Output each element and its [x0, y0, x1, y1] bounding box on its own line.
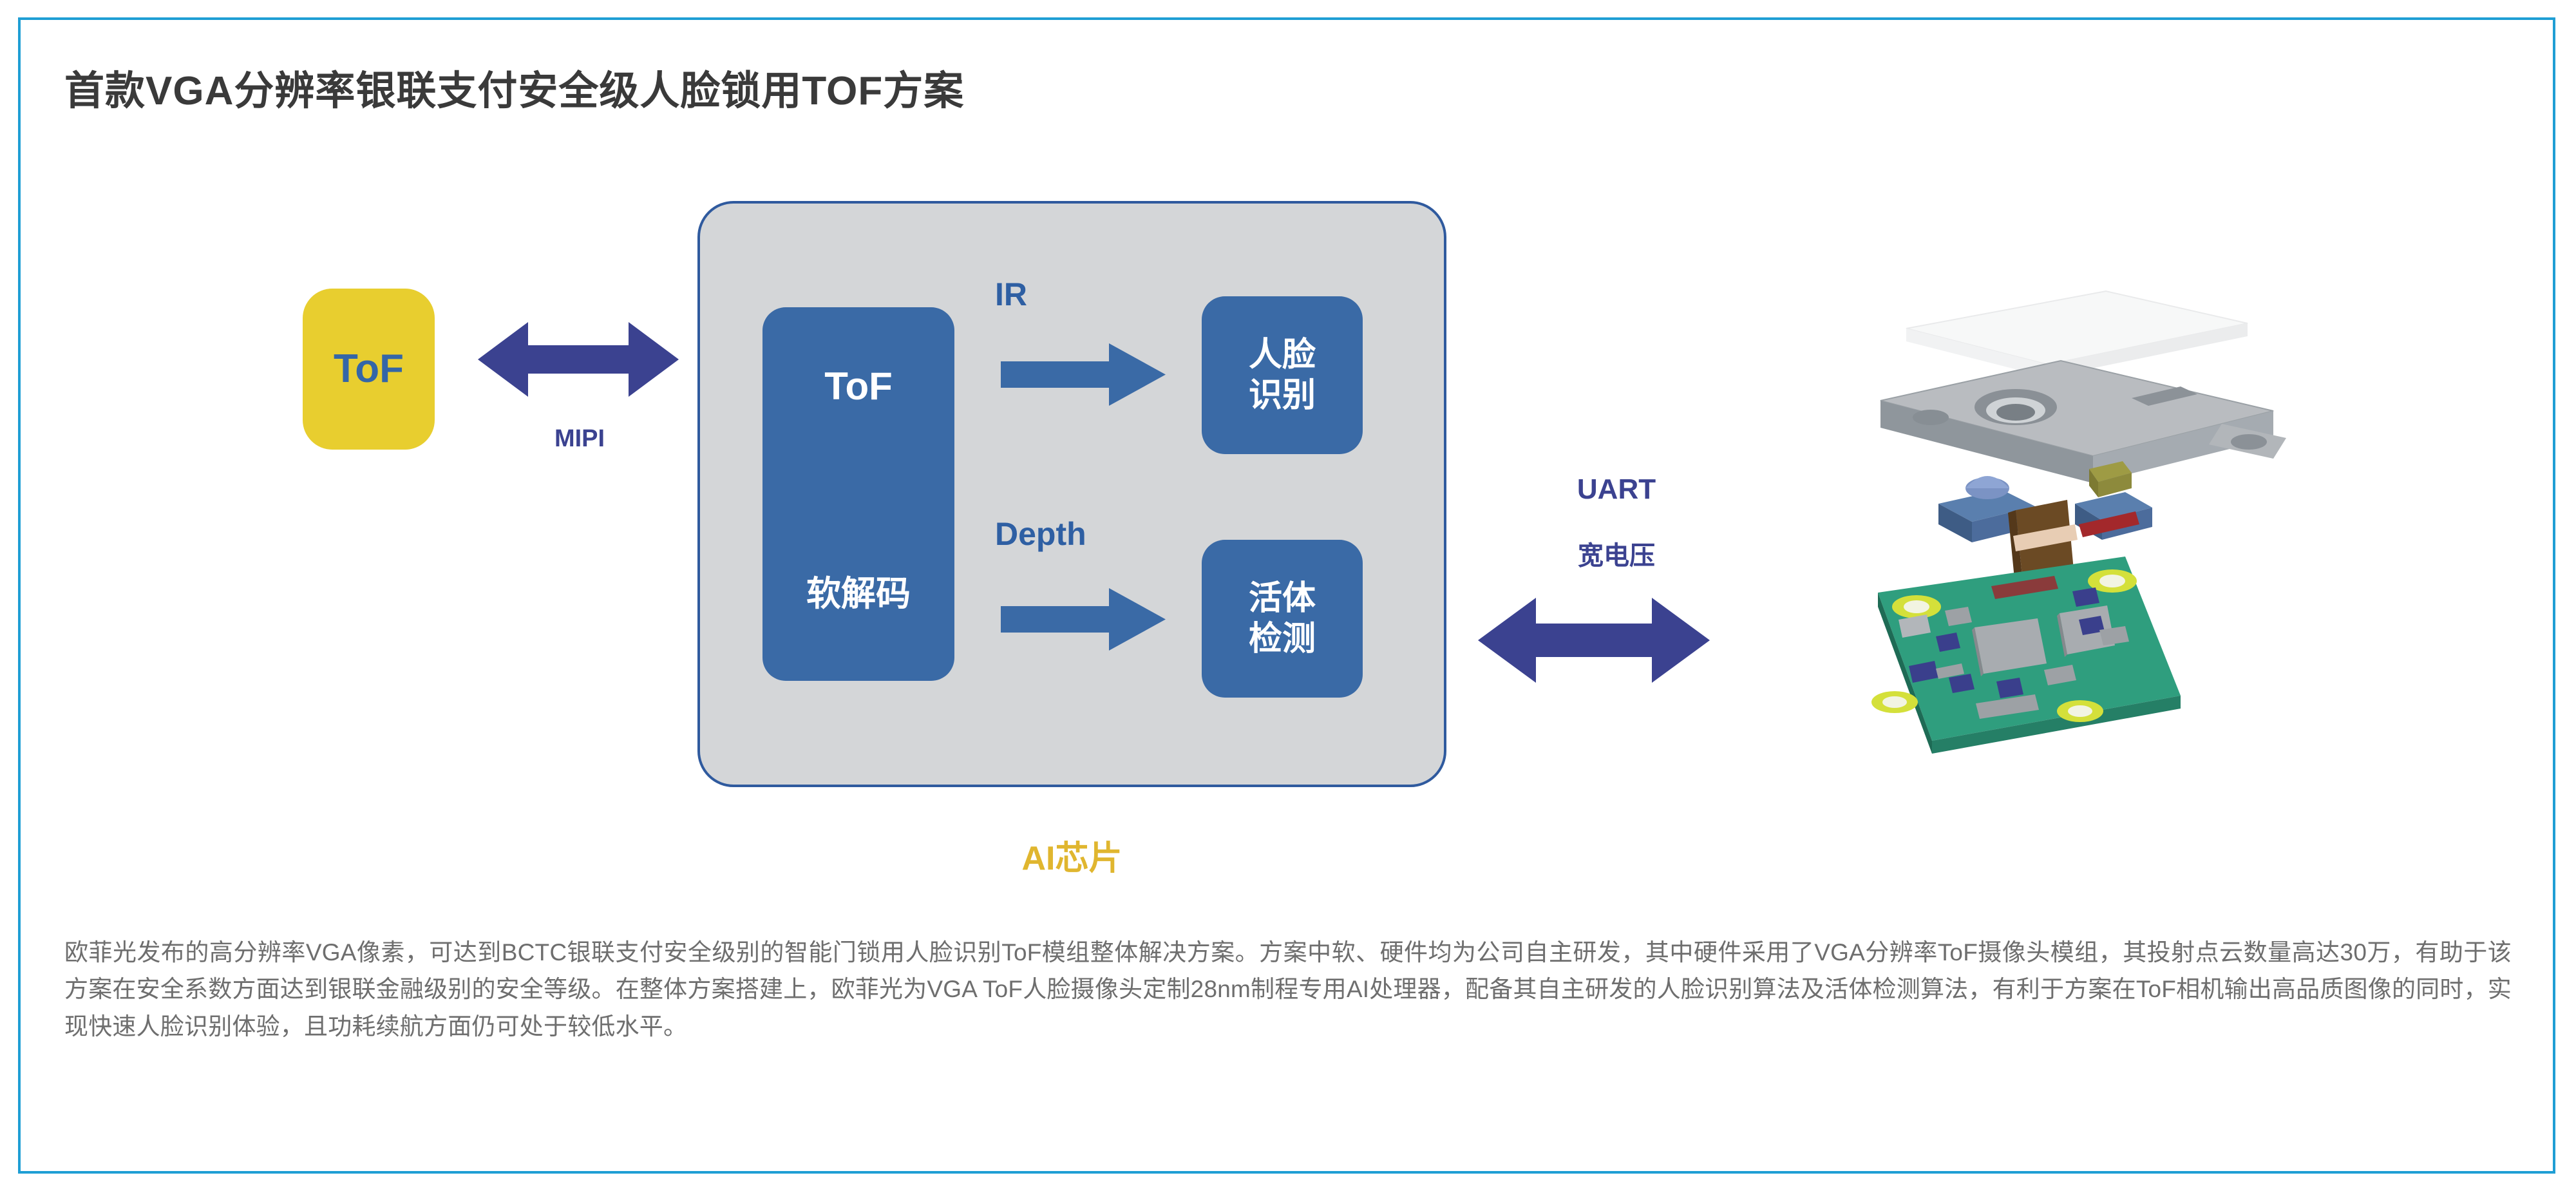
uart-double-arrow-icon — [1478, 591, 1710, 689]
face-recognition-box: 人脸 识别 — [1202, 296, 1363, 454]
tof-sensor-box: ToF — [303, 289, 435, 450]
mipi-double-arrow-icon — [478, 317, 679, 402]
ir-arrow-icon — [1001, 343, 1166, 406]
tof-processor-box: ToF 软解码 — [762, 307, 954, 681]
wide-voltage-label: 宽电压 — [1513, 535, 1719, 572]
face-recognition-line1: 人脸 — [1249, 336, 1316, 374]
liveness-detection-box: 活体 检测 — [1202, 540, 1363, 698]
ir-stream-label: IR — [995, 276, 1027, 313]
uart-label: UART — [1513, 473, 1719, 506]
tof-module-render-icon — [1823, 251, 2338, 786]
page-title: 首款VGA分辨率银联支付安全级人脸锁用TOF方案 — [64, 58, 964, 116]
mipi-label: MIPI — [522, 425, 638, 453]
tof-processor-subtitle: 软解码 — [762, 565, 954, 616]
depth-stream-label: Depth — [995, 515, 1086, 553]
tof-processor-title: ToF — [762, 364, 954, 408]
depth-arrow-icon — [1001, 588, 1166, 651]
ai-chip-caption: AI芯片 — [697, 831, 1446, 879]
slide-canvas: 首款VGA分辨率银联支付安全级人脸锁用TOF方案 ToF MIPI ToF 软解… — [0, 0, 2576, 1191]
description-paragraph: 欧菲光发布的高分辨率VGA像素，可达到BCTC银联支付安全级别的智能门锁用人脸识… — [64, 934, 2512, 1045]
liveness-detection-line1: 活体 — [1249, 580, 1316, 617]
face-recognition-line2: 识别 — [1249, 377, 1316, 414]
tof-sensor-label: ToF — [334, 349, 404, 389]
liveness-detection-line2: 检测 — [1249, 620, 1316, 658]
